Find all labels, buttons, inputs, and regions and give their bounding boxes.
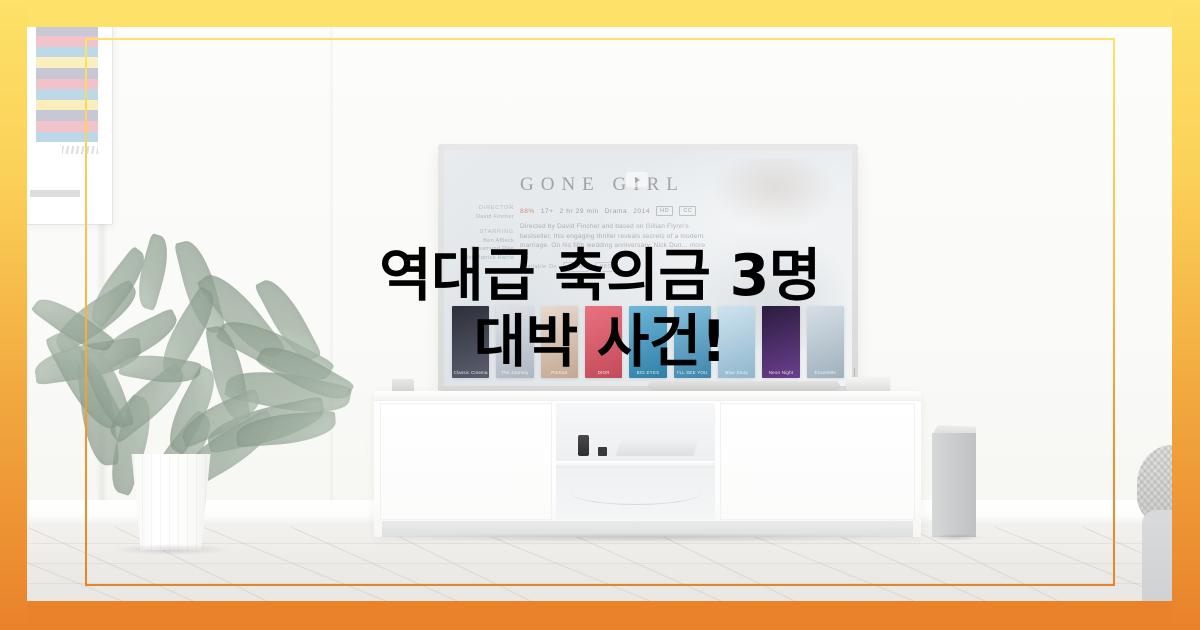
play-icon[interactable]: [626, 172, 648, 187]
tv-console: [374, 391, 921, 537]
artwork-stripe: [36, 121, 98, 132]
border-bottom: [0, 601, 1200, 630]
router-device: [846, 377, 890, 391]
small-box: [598, 447, 607, 456]
director-label: DIRECTOR: [450, 204, 514, 213]
cable: [570, 479, 702, 505]
laptop: [616, 440, 699, 456]
movie-meta-row: 88% 17+ 2 hr 29 min Drama 2014 HD CC: [520, 206, 696, 216]
floor-seam: [0, 563, 1200, 564]
age-rating: 17+: [541, 208, 554, 215]
border-top: [0, 0, 1200, 27]
floor-seam: [0, 583, 1200, 584]
console-open-shelf: [556, 403, 715, 520]
starring-label: STARRING: [450, 228, 514, 237]
top-small-box: [392, 379, 414, 391]
director-name: David Fincher: [450, 213, 514, 222]
pot-shadow: [114, 544, 230, 555]
artwork-stripe: [36, 68, 98, 79]
artwork-stripe: [36, 79, 98, 90]
headline-line-2: 대박 사건!: [0, 312, 1200, 372]
artwork-stripe: [36, 36, 98, 47]
artwork-stripe: [36, 57, 98, 68]
artwork-signature: [62, 146, 98, 154]
artwork-stripe: [36, 26, 98, 37]
console-shadow: [374, 533, 921, 542]
floor-standing-speaker: [932, 433, 976, 537]
speaker-shadow: [928, 534, 982, 541]
artwork-stripe: [36, 132, 98, 143]
runtime: 2 hr 29 min: [560, 208, 599, 215]
page-title: 역대급 축의금 3명 대박 사건!: [0, 246, 1200, 373]
artwork-stripe: [36, 89, 98, 100]
hd-badge: HD: [656, 206, 673, 216]
headline-line-1: 역대급 축의금 3명: [0, 246, 1200, 306]
console-top-surface: [374, 391, 921, 401]
artwork-caption: [30, 190, 80, 197]
shelf-divider: [556, 461, 715, 468]
artwork-stripe: [36, 100, 98, 111]
console-door-right[interactable]: [720, 403, 915, 520]
framed-artwork: [22, 0, 112, 224]
pot-ridges: [124, 454, 218, 550]
release-year: 2014: [633, 208, 650, 215]
remote-control: [578, 435, 589, 456]
poster-canvas: GONE GIRL DIRECTOR David Fincher STARRIN…: [0, 0, 1200, 630]
console-door-left[interactable]: [380, 403, 552, 520]
critic-score: 88%: [520, 208, 535, 215]
movie-title: GONE GIRL: [520, 174, 685, 196]
artwork-stripe: [36, 47, 98, 58]
artwork-stripe: [36, 110, 98, 121]
plant-pot: [124, 454, 218, 550]
soundbar: [648, 381, 840, 391]
genre: Drama: [605, 208, 628, 215]
cc-badge: CC: [679, 206, 696, 216]
